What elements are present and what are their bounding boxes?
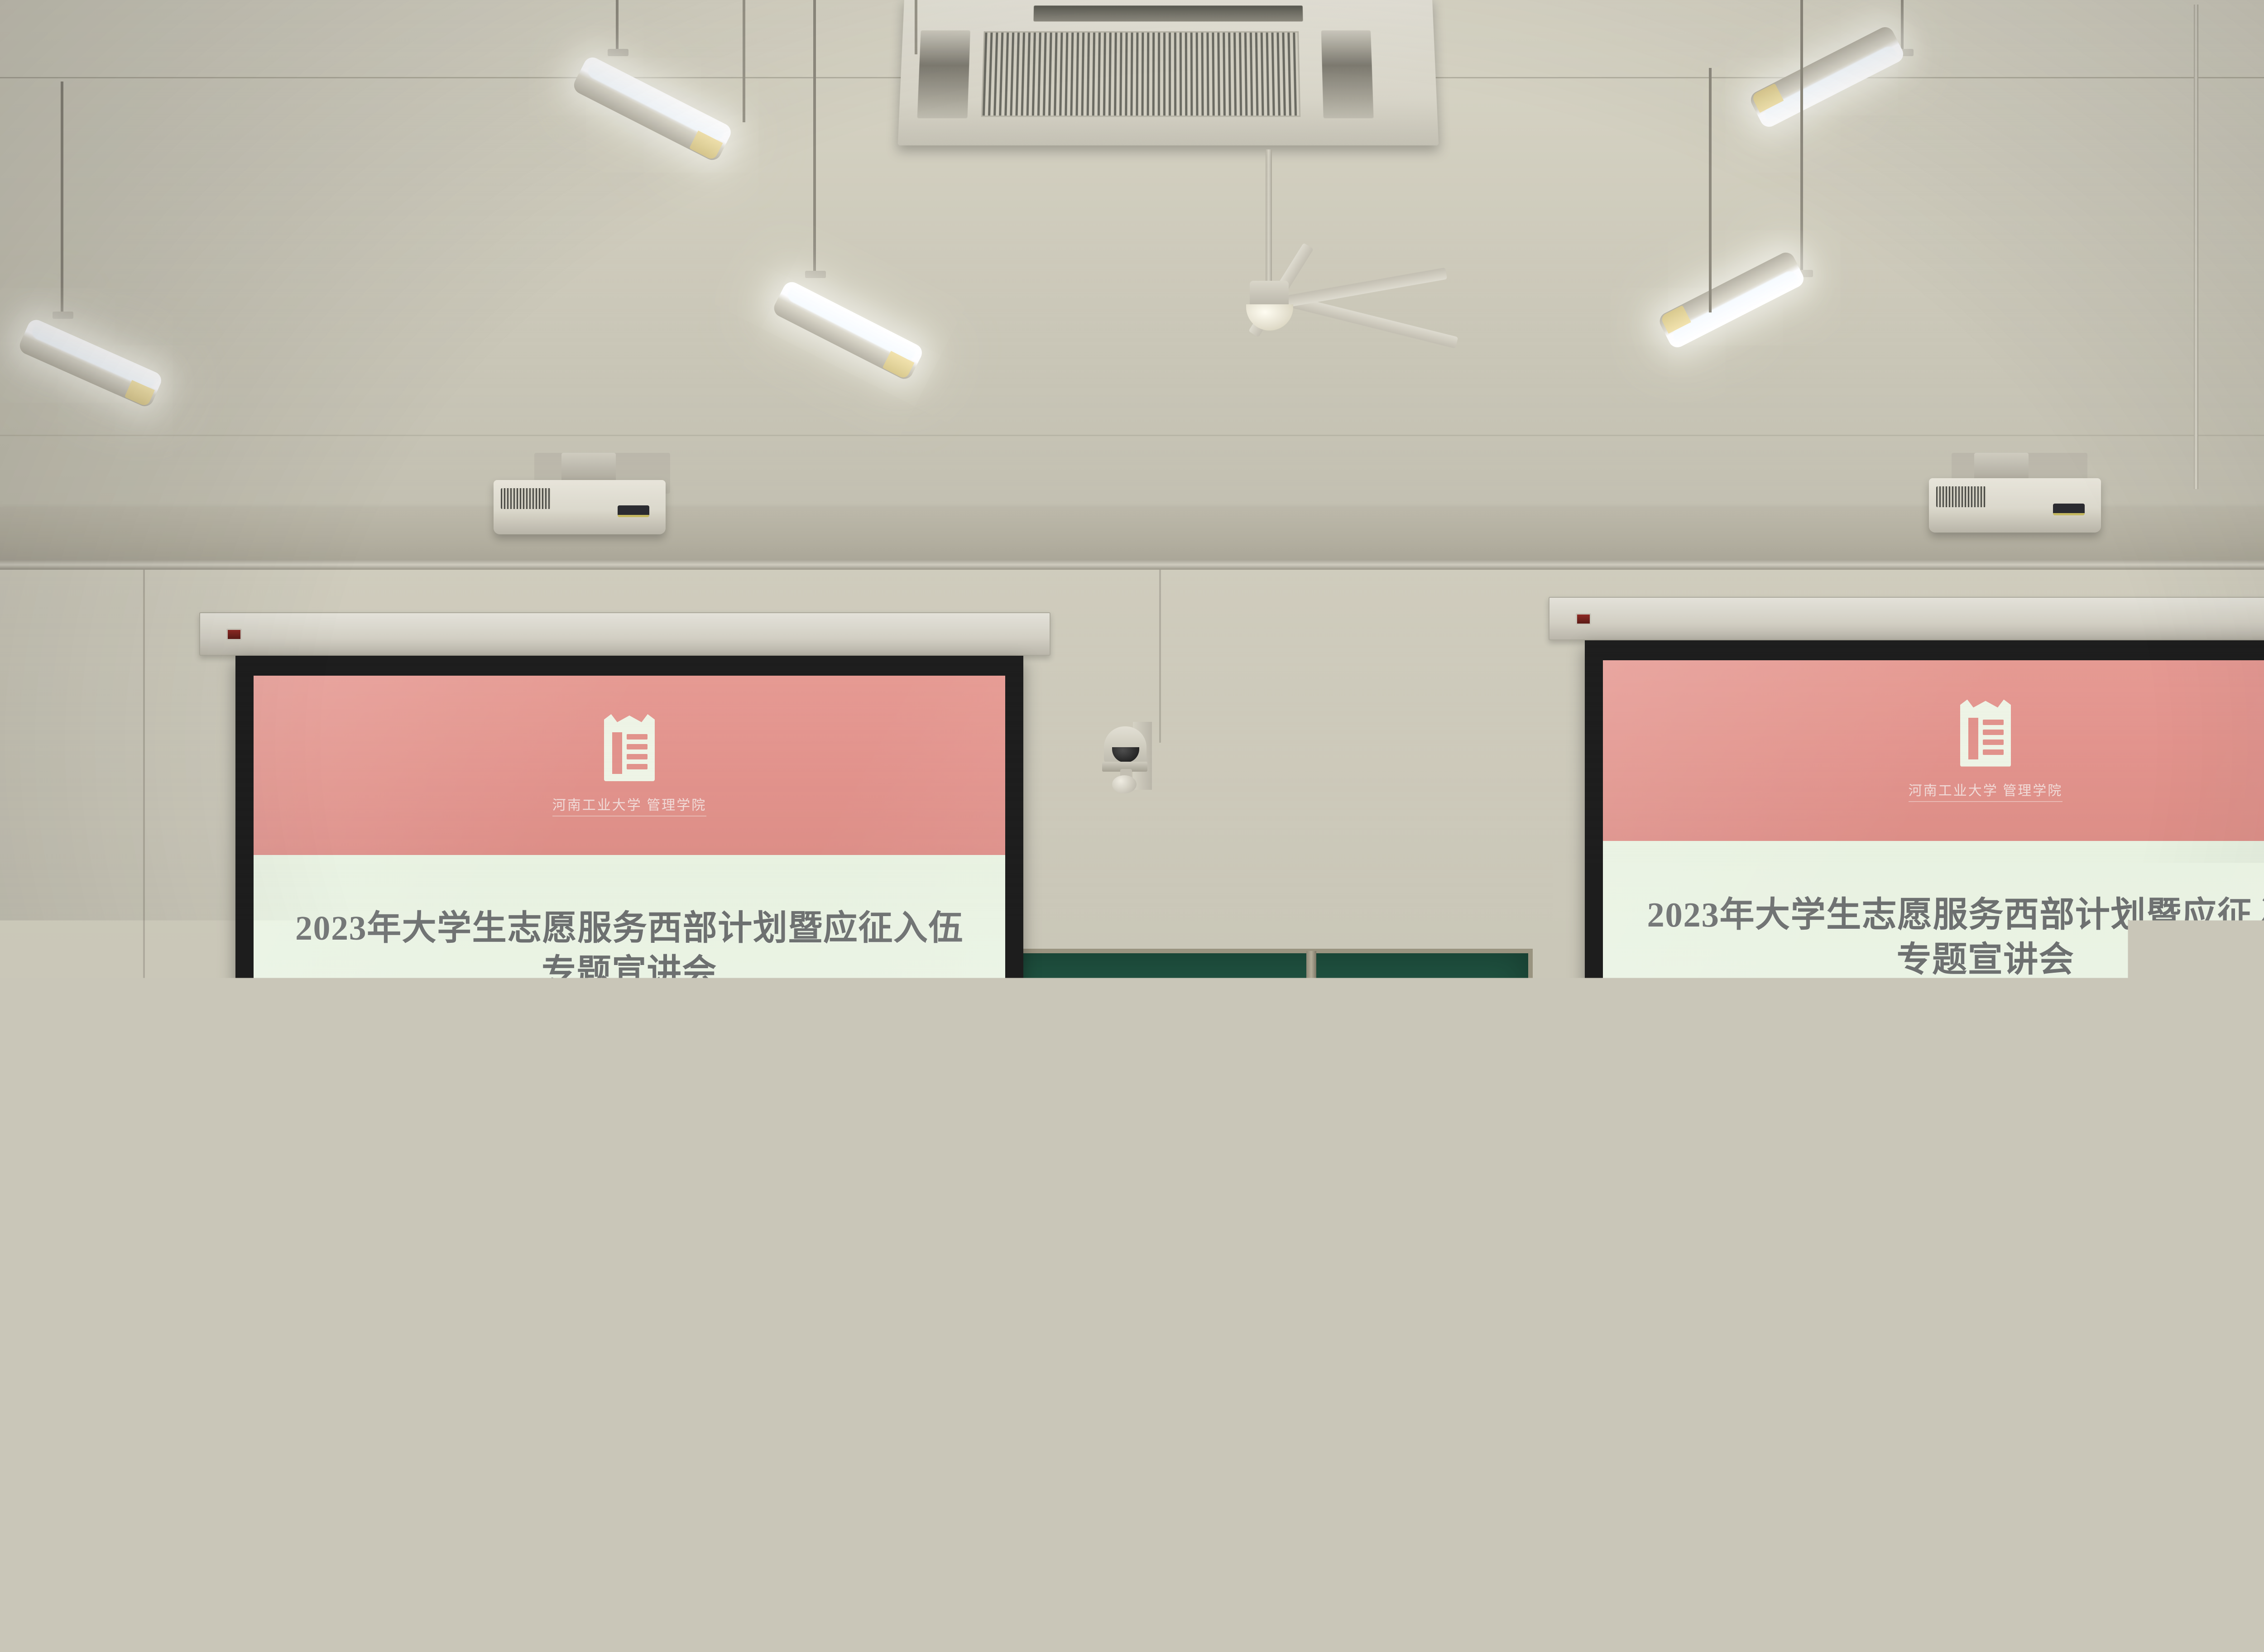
projector-vent xyxy=(501,488,551,509)
riser-pipe xyxy=(149,1214,157,1522)
speaker-grille-pattern xyxy=(1426,1368,1481,1476)
audience-member-head xyxy=(344,1426,494,1621)
speaker-eye-left xyxy=(1360,1166,1376,1169)
slide-date: 二〇二三年五月八日 xyxy=(523,1081,735,1115)
speaker-eye-right xyxy=(1387,1165,1403,1168)
ceiling-fan-rod xyxy=(1266,149,1272,285)
seat[interactable] xyxy=(1920,1603,2056,1652)
audience-member-head xyxy=(693,1440,847,1635)
slide-title: 2023年大学生志愿服务西部计划暨应征入伍 专题宣讲会 xyxy=(295,907,964,995)
audience-member-glasses xyxy=(426,1485,475,1522)
chalk-piece[interactable] xyxy=(498,1405,532,1418)
hanging-rod xyxy=(743,0,745,122)
emblem-caption: 河南工业大学 管理学院 xyxy=(1909,779,2063,802)
slide-right: 河南工业大学 管理学院 2023年大学生志愿服务西部计划暨应征入伍 专题宣讲会 … xyxy=(1603,660,2264,1208)
lectern-university-name-cn: 河南工业大学 xyxy=(1196,1377,1395,1417)
seat[interactable] xyxy=(890,1603,1026,1652)
slide-footer-band xyxy=(1603,1137,2264,1208)
university-emblem xyxy=(1960,700,2011,767)
radiator-pipe-vertical xyxy=(136,1291,144,1517)
screen-housing-right[interactable] xyxy=(1549,597,2264,640)
lectern-indicator-light xyxy=(1286,1462,1304,1480)
seat[interactable] xyxy=(2067,1603,2203,1652)
slide-organization: 管理学院 xyxy=(579,1038,680,1075)
slide-organization: 管理学院 xyxy=(1934,1026,2037,1063)
lectern-university-name-en: HENAN UNIVERSITY OF TECHNOLOGY xyxy=(1173,1424,1417,1450)
air-conditioner-unit xyxy=(898,0,1439,145)
projector-right xyxy=(1929,478,2101,533)
slide-title: 2023年大学生志愿服务西部计划暨应征入伍 专题宣讲会 xyxy=(1647,893,2264,982)
ceiling-beam xyxy=(0,507,2264,566)
slide-title-line-1: 2023年大学生志愿服务西部计划暨应征入伍 xyxy=(295,907,964,951)
chalk-tray-left xyxy=(235,1407,1146,1418)
security-camera xyxy=(1100,722,1150,790)
slide-title-line-2: 专题宣讲会 xyxy=(1647,937,2264,982)
audience-member-head xyxy=(0,1431,118,1621)
hanging-rod xyxy=(915,0,917,54)
seat[interactable] xyxy=(2214,1603,2264,1652)
lectern-speaker-left xyxy=(1078,1342,1186,1505)
wall-radiator xyxy=(0,1250,154,1445)
audience-member-head xyxy=(1540,1490,1707,1652)
ceiling-seam xyxy=(0,435,2264,436)
screen-indicator-led xyxy=(1576,613,1591,625)
slide-body: 2023年大学生志愿服务西部计划暨应征入伍 专题宣讲会 管理学院 二〇二三年五月… xyxy=(1603,841,2264,1137)
projector-left xyxy=(494,480,666,534)
slide-header-band: 河南工业大学 管理学院 xyxy=(1603,660,2264,841)
slide-title-line-2: 专题宣讲会 xyxy=(295,951,964,994)
university-emblem xyxy=(604,714,655,781)
emblem-caption: 河南工业大学 管理学院 xyxy=(552,794,707,816)
speaker-presenter xyxy=(1304,1096,1503,1354)
seat[interactable] xyxy=(1184,1603,1320,1652)
wall-seam xyxy=(1159,562,1161,743)
projector-lens xyxy=(618,505,649,517)
necklace-pendant xyxy=(1399,1252,1405,1258)
speaker-lips xyxy=(1373,1189,1392,1196)
screen-housing-left[interactable] xyxy=(199,612,1050,656)
projection-screen-right: 河南工业大学 管理学院 2023年大学生志愿服务西部计划暨应征入伍 专题宣讲会 … xyxy=(1585,640,2264,1234)
radiator-valve-handle[interactable] xyxy=(89,1281,124,1292)
slide-header-band: 河南工业大学 管理学院 xyxy=(254,676,1005,855)
ac-grille xyxy=(981,31,1300,117)
speaker-fringe xyxy=(1343,1119,1417,1157)
hanging-rod xyxy=(2194,5,2198,489)
projector-lens xyxy=(2053,504,2085,515)
slide-title-line-1: 2023年大学生志愿服务西部计划暨应征入伍 xyxy=(1647,893,2264,937)
ac-vane-right xyxy=(1321,30,1374,118)
radiator-cap xyxy=(54,1300,72,1318)
seat[interactable] xyxy=(1037,1603,1173,1652)
blackboard-right xyxy=(1530,1223,2264,1417)
slide-footer-band xyxy=(254,1148,1005,1219)
audience-member-head xyxy=(1703,1553,1793,1652)
ceiling-fan-hub xyxy=(1250,281,1289,308)
screen-indicator-led xyxy=(226,629,242,640)
slide-body: 2023年大学生志愿服务西部计划暨应征入伍 专题宣讲会 管理学院 二〇二三年五月… xyxy=(254,855,1005,1148)
wall-conduit xyxy=(0,560,2264,570)
speaker-arm-left xyxy=(1304,1230,1362,1351)
chalk-tray-right xyxy=(1530,1414,2264,1426)
speaker-script-paper-lower xyxy=(1356,1297,1460,1337)
speaker-grille-pattern xyxy=(1105,1368,1159,1476)
slide-date: 二〇二三年五月八日 xyxy=(1878,1069,2094,1104)
seat[interactable] xyxy=(1773,1603,1909,1652)
radiator-cap xyxy=(5,1300,23,1318)
lectern-front-panel: 河南工业大学 HENAN UNIVERSITY OF TECHNOLOGY xyxy=(1173,1356,1417,1501)
camera-joint-knob xyxy=(1112,775,1137,793)
lecture-hall-photo: 河南工业大学 管理学院 2023年大学生志愿服务西部计划暨应征入伍 专题宣讲会 … xyxy=(0,0,2264,1652)
slide-left: 河南工业大学 管理学院 2023年大学生志愿服务西部计划暨应征入伍 专题宣讲会 … xyxy=(254,676,1005,1219)
wall-seam xyxy=(143,562,145,1268)
radiator-cap xyxy=(104,1300,122,1318)
projection-screen-left: 河南工业大学 管理学院 2023年大学生志愿服务西部计划暨应征入伍 专题宣讲会 … xyxy=(235,656,1023,1244)
projector-vent xyxy=(1936,486,1986,507)
ac-return-slot xyxy=(1033,5,1303,21)
ac-vane-left xyxy=(917,30,970,118)
